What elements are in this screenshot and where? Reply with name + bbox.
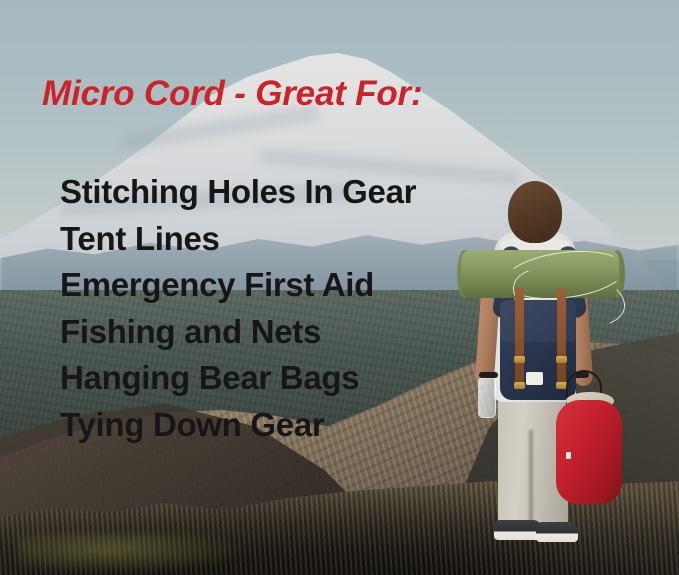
use-case-item: Tying Down Gear [60, 402, 480, 449]
leather-strap-left [515, 288, 524, 384]
leather-strap-right [557, 288, 566, 384]
use-case-list: Stitching Holes In Gear Tent Lines Emerg… [60, 169, 480, 448]
headline-title: Micro Cord - Great For: [42, 74, 422, 114]
brass-buckle [514, 382, 525, 389]
hiker-shoe-left [494, 520, 542, 540]
hiker-shoe-right [536, 522, 578, 542]
pants-seam [529, 430, 533, 534]
product-poster: Micro Cord - Great For: Stitching Holes … [0, 0, 679, 575]
water-bottle [478, 378, 496, 418]
use-case-item: Hanging Bear Bags [60, 355, 480, 402]
use-case-item: Emergency First Aid [60, 262, 480, 309]
use-case-item: Fishing and Nets [60, 309, 480, 356]
brass-buckle [514, 356, 525, 363]
stuff-sack-tag [566, 452, 571, 459]
hiker-head [508, 181, 562, 243]
brass-buckle [556, 356, 567, 363]
backpack-logo-patch [526, 372, 543, 385]
use-case-item: Stitching Holes In Gear [60, 169, 480, 216]
use-case-item: Tent Lines [60, 216, 480, 263]
